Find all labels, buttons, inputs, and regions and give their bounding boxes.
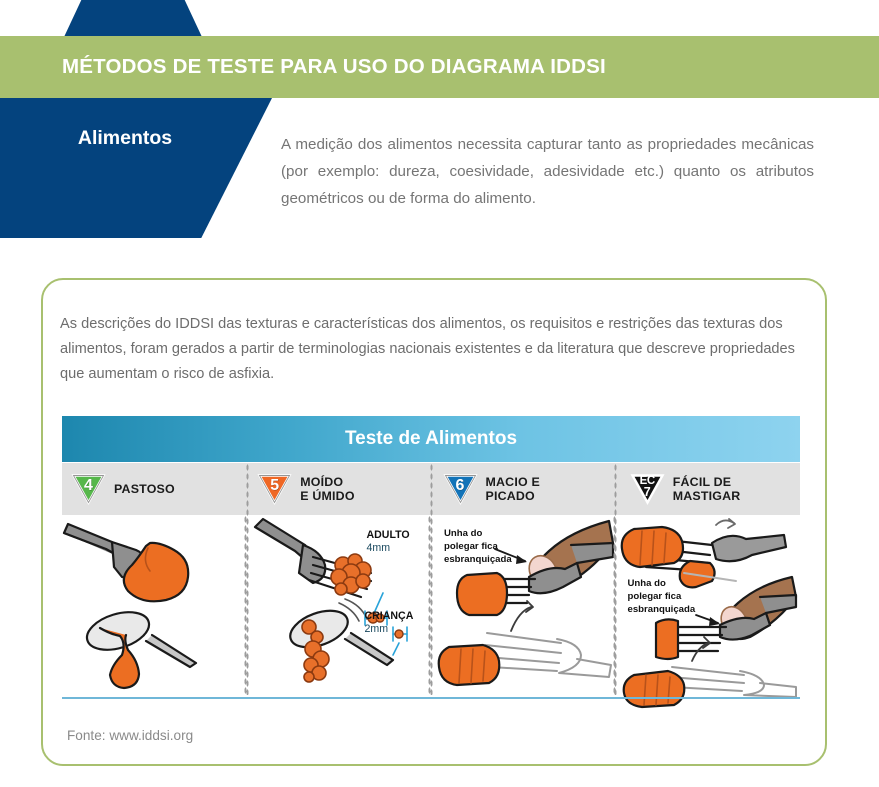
annotation-line3: esbranquiçada [628, 604, 696, 615]
annotation-crianca-title: CRIANÇA [365, 610, 414, 622]
column-label-line1: FÁCIL DE [673, 475, 732, 489]
fork-and-spoon-puree-illustration [62, 515, 246, 695]
column-label-pastoso: PASTOSO [114, 482, 175, 497]
column-header-moido-e-umido: 5 MOÍDO E ÚMIDO [241, 463, 427, 515]
alimentos-label: Alimentos [78, 127, 172, 150]
food-test-panel: Teste de Alimentos 4 PASTOSO [62, 416, 800, 713]
level-4-number: 4 [84, 478, 93, 494]
page-root: MÉTODOS DE TESTE PARA USO DO DIAGRAMA ID… [0, 0, 879, 787]
column-label-facil-de-mastigar: FÁCIL DE MASTIGAR [673, 475, 741, 504]
level-5-number: 5 [270, 478, 279, 494]
column-label-line2: PICADO [486, 489, 535, 503]
level-5-triangle-icon: 5 [258, 474, 291, 504]
annotation-line1: Unha do [444, 528, 482, 539]
panel-banner-title: Teste de Alimentos [345, 428, 517, 450]
illustration-moido-e-umido: ADULTO 4mm CRIANÇA 2mm [247, 515, 432, 695]
column-header-facil-de-mastigar: EC 7 FÁCIL DE MASTIGAR [613, 463, 800, 515]
intro-paragraph: A medição dos alimentos necessita captur… [281, 131, 814, 212]
annotation-adulto: ADULTO 4mm [367, 529, 410, 555]
section-title-bar: MÉTODOS DE TESTE PARA USO DO DIAGRAMA ID… [0, 36, 879, 98]
column-header-macio-e-picado: 6 MACIO E PICADO [428, 463, 613, 515]
annotation-adulto-value: 4mm [367, 542, 391, 554]
illustration-macio-e-picado: Unha do polegar fica esbranquiçada [431, 515, 616, 695]
level-ec7-triangle-icon: EC 7 [631, 474, 664, 504]
annotation-crianca-value: 2mm [365, 623, 389, 635]
panel-bottom-rule [62, 697, 800, 699]
annotation-unha-polegar: Unha do polegar fica esbranquiçada [444, 527, 512, 566]
column-label-line2: E ÚMIDO [300, 489, 354, 503]
alimentos-hexagon-badge: Alimentos [0, 98, 272, 238]
column-header-pastoso: 4 PASTOSO [62, 463, 241, 515]
column-label-macio-e-picado: MACIO E PICADO [486, 475, 540, 504]
level-6-triangle-icon: 6 [444, 474, 477, 504]
column-label-line1: MACIO E [486, 475, 540, 489]
level-ec7-text: EC 7 [640, 476, 655, 499]
column-label-moido-e-umido: MOÍDO E ÚMIDO [300, 475, 354, 504]
illustration-row: ADULTO 4mm CRIANÇA 2mm [62, 515, 800, 695]
page-title: MÉTODOS DE TESTE PARA USO DO DIAGRAMA ID… [62, 55, 606, 79]
illustration-pastoso [62, 515, 247, 695]
level-4-triangle-icon: 4 [72, 474, 105, 504]
content-card: As descrições do IDDSI das texturas e ca… [41, 278, 827, 766]
annotation-unha-polegar-2: Unha do polegar fica esbranquiçada [628, 577, 696, 616]
level-6-number: 6 [456, 478, 465, 494]
level-7-number: 7 [640, 487, 655, 499]
annotation-adulto-title: ADULTO [367, 529, 410, 541]
panel-banner: Teste de Alimentos [62, 416, 800, 462]
source-label: Fonte: www.iddsi.org [67, 728, 193, 743]
annotation-line2: polegar fica [444, 541, 498, 552]
annotation-line1: Unha do [628, 578, 666, 589]
column-label-line2: MASTIGAR [673, 489, 741, 503]
annotation-crianca: CRIANÇA 2mm [365, 610, 414, 636]
illustration-facil-de-mastigar: Unha do polegar fica esbranquiçada [616, 515, 801, 695]
annotation-line3: esbranquiçada [444, 554, 512, 565]
annotation-line2: polegar fica [628, 591, 682, 602]
card-description: As descrições do IDDSI das texturas e ca… [60, 312, 814, 387]
column-label-line1: MOÍDO [300, 475, 343, 489]
